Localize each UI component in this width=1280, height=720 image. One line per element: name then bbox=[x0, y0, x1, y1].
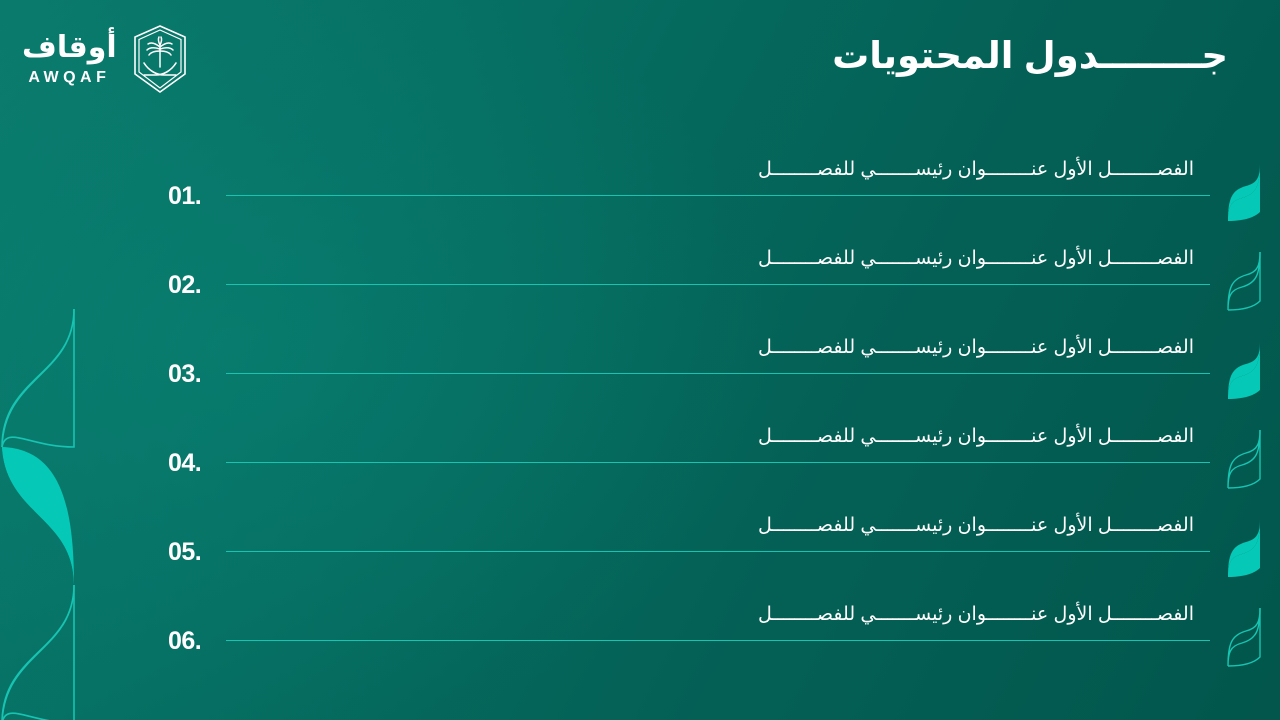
toc-row-title[interactable]: الفصــــــــل الأول عنــــــــوان رئيســ… bbox=[758, 603, 1194, 626]
toc-row-leader-line bbox=[226, 373, 1210, 374]
toc-row-number: 02. bbox=[168, 271, 201, 300]
toc-row-01[interactable]: 01. الفصــــــــل الأول عنــــــــوان رئ… bbox=[0, 148, 1280, 237]
toc-row-number: 01. bbox=[168, 182, 201, 211]
toc-row-title[interactable]: الفصــــــــل الأول عنــــــــوان رئيســ… bbox=[758, 158, 1194, 181]
toc-row-leader-line bbox=[226, 284, 1210, 285]
leaf-icon-outline bbox=[1222, 249, 1266, 313]
toc-row-04[interactable]: 04. الفصــــــــل الأول عنــــــــوان رئ… bbox=[0, 415, 1280, 504]
toc-row-leader-line bbox=[226, 551, 1210, 552]
toc-row-title[interactable]: الفصــــــــل الأول عنــــــــوان رئيســ… bbox=[758, 336, 1194, 359]
slide-root: أوقاف AWQAF جــ bbox=[0, 0, 1280, 720]
toc-row-leader-line bbox=[226, 462, 1210, 463]
toc-row-05[interactable]: 05. الفصــــــــل الأول عنــــــــوان رئ… bbox=[0, 504, 1280, 593]
leaf-icon-outline bbox=[1222, 605, 1266, 669]
toc-row-03[interactable]: 03. الفصــــــــل الأول عنــــــــوان رئ… bbox=[0, 326, 1280, 415]
leaf-icon-filled bbox=[1222, 338, 1266, 402]
page-title: جــــــــدول المحتويات bbox=[0, 34, 1228, 77]
toc-row-number: 06. bbox=[168, 627, 201, 656]
toc-row-leader-line bbox=[226, 640, 1210, 641]
toc-row-number: 03. bbox=[168, 360, 201, 389]
toc-row-number: 04. bbox=[168, 449, 201, 478]
toc-row-title[interactable]: الفصــــــــل الأول عنــــــــوان رئيســ… bbox=[758, 425, 1194, 448]
toc-row-number: 05. bbox=[168, 538, 201, 567]
leaf-icon-filled bbox=[1222, 160, 1266, 224]
toc-row-06[interactable]: 06. الفصــــــــل الأول عنــــــــوان رئ… bbox=[0, 593, 1280, 682]
toc-row-title[interactable]: الفصــــــــل الأول عنــــــــوان رئيســ… bbox=[758, 247, 1194, 270]
toc-row-title[interactable]: الفصــــــــل الأول عنــــــــوان رئيســ… bbox=[758, 514, 1194, 537]
leaf-icon-filled bbox=[1222, 516, 1266, 580]
toc-row-02[interactable]: 02. الفصــــــــل الأول عنــــــــوان رئ… bbox=[0, 237, 1280, 326]
toc-row-leader-line bbox=[226, 195, 1210, 196]
leaf-icon-outline bbox=[1222, 427, 1266, 491]
table-of-contents-list: 01. الفصــــــــل الأول عنــــــــوان رئ… bbox=[0, 148, 1280, 682]
